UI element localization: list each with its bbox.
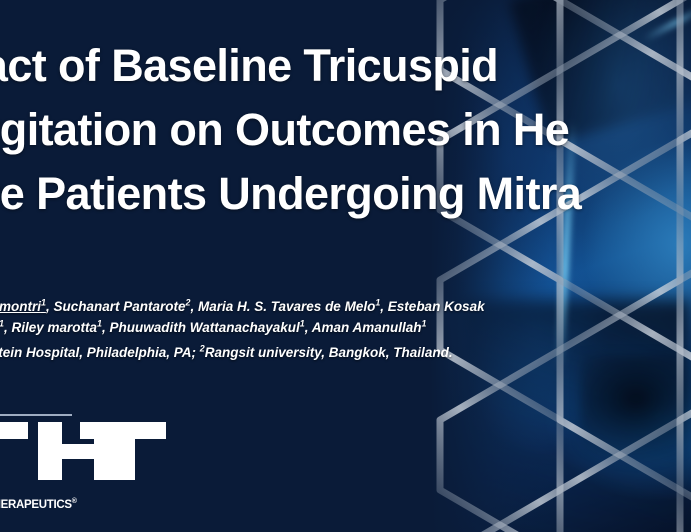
page-title: pact of Baseline Tricuspid urgitation on… (0, 34, 691, 290)
tht-logo: ® LOGY AND AILURE THERAPEUTICS® (0, 414, 212, 511)
logo-tagline-line2-text: AILURE THERAPEUTICS (0, 499, 72, 511)
first-author-text: an Srikulmontri (0, 299, 41, 314)
author-line2-part4: , Aman Amanullah (305, 320, 422, 335)
author-line1-part4: , Esteban Kosak (380, 299, 484, 314)
author-line1-part2: , Suchanart Pantarote (46, 299, 186, 314)
logo-t1-crossbar (0, 422, 28, 439)
logo-h-left-stem (38, 422, 62, 480)
logo-tagline-line1: LOGY AND (0, 486, 212, 498)
logo-h-crossbar (62, 444, 94, 459)
author-list: an Srikulmontri1, Suchanart Pantarote2, … (0, 296, 691, 338)
author-line1-part3: , Maria H. S. Tavares de Melo (191, 299, 376, 314)
author-line-1: an Srikulmontri1, Suchanart Pantarote2, … (0, 296, 691, 317)
title-slide: pact of Baseline Tricuspid urgitation on… (0, 0, 691, 532)
author-line-2: H. Yesho1, Riley marotta1, Phuuwadith Wa… (0, 317, 691, 338)
first-author-name: an Srikulmontri1 (0, 299, 46, 314)
affiliation-line: son Einstein Hospital, Philadelphia, PA;… (0, 343, 691, 363)
logo-tagline-registered: ® (72, 498, 77, 505)
author-line2-part3: , Phuuwadith Wattanachayakul (102, 320, 300, 335)
author-line2-sup4: 1 (422, 319, 427, 329)
logo-letters-tht: ® (0, 422, 192, 480)
affiliation-part1: son Einstein Hospital, Philadelphia, PA; (0, 345, 200, 360)
logo-t2-stem (111, 439, 135, 480)
logo-divider-rule (0, 414, 72, 416)
logo-tagline-line2: AILURE THERAPEUTICS® (0, 498, 212, 511)
author-line2-part2: , Riley marotta (4, 320, 97, 335)
affiliation-part2: Rangsit university, Bangkok, Thailand. (205, 345, 453, 360)
photo-shadow-mid (580, 355, 691, 465)
logo-registered-mark: ® (148, 428, 154, 437)
